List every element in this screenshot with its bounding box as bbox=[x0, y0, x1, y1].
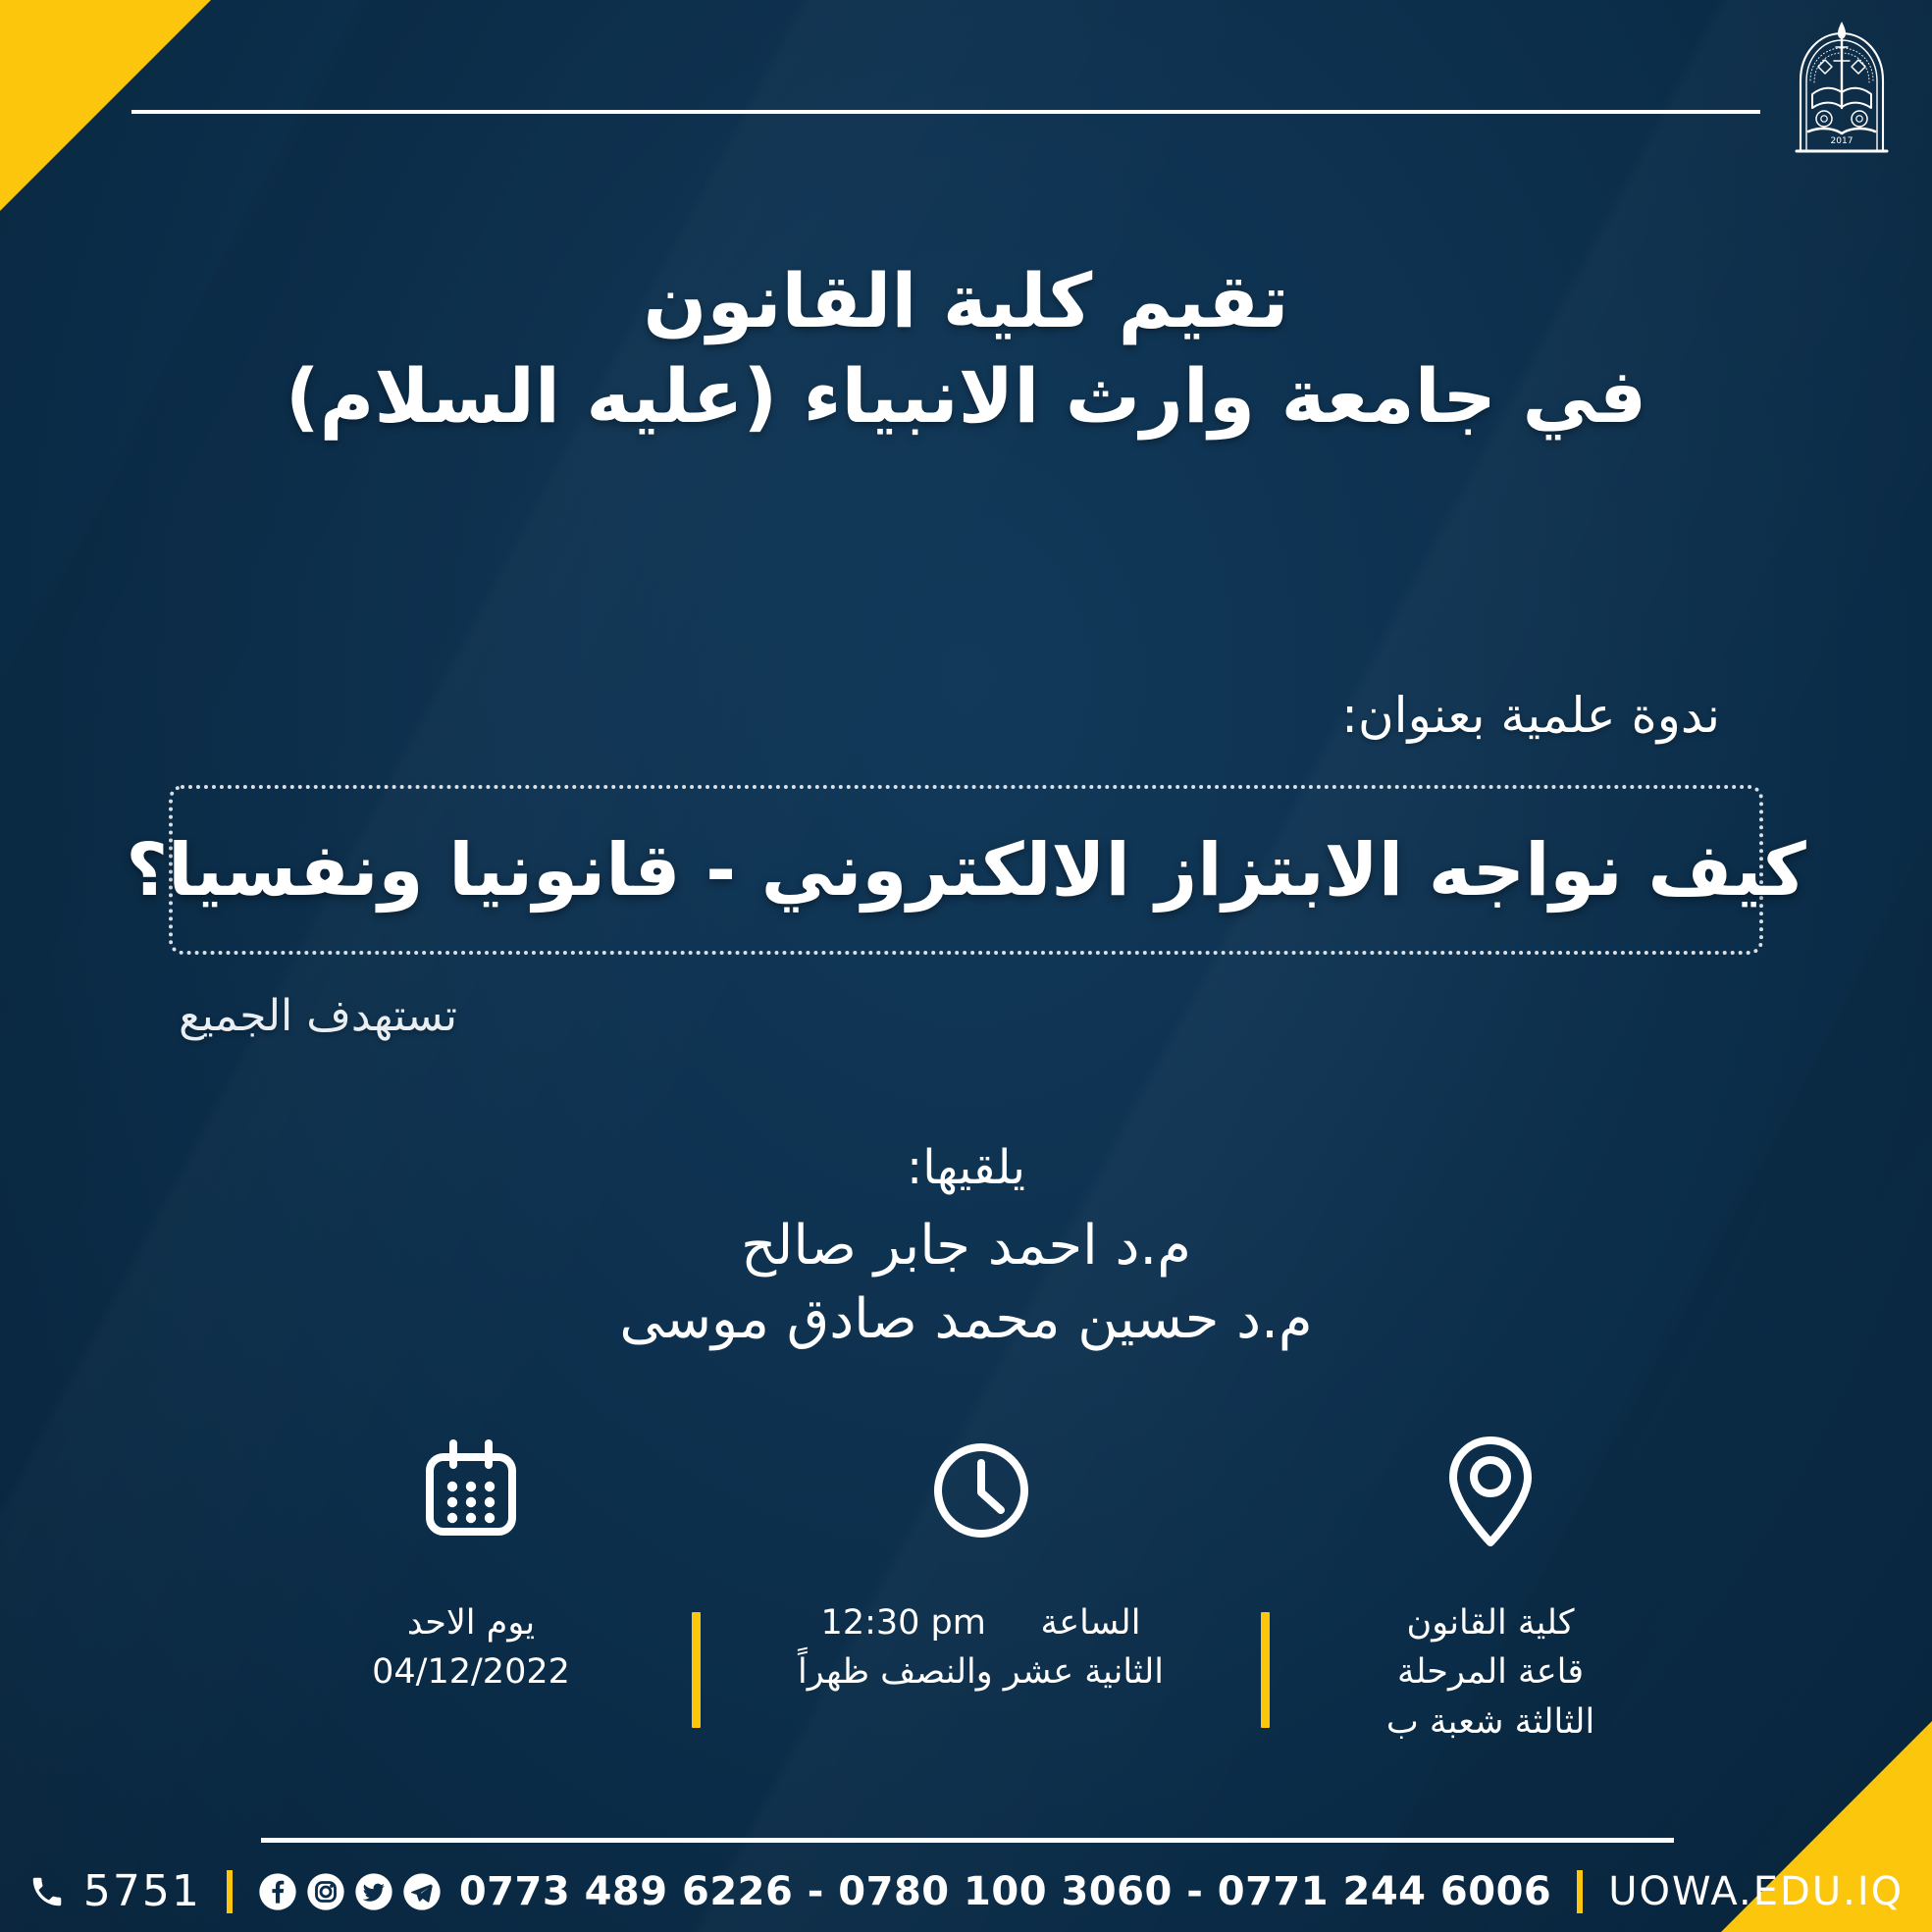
info-divider bbox=[692, 1612, 701, 1728]
footer-separator bbox=[1577, 1870, 1583, 1913]
seminar-title-box: كيف نواجه الابتزاز الالكتروني - قانونيا … bbox=[169, 785, 1763, 955]
event-place-line-1: كلية القانون bbox=[1386, 1598, 1594, 1647]
speaker-name: م.د احمد جابر صالح bbox=[0, 1209, 1932, 1282]
event-place-lines: كلية القانون قاعة المرحلة الثالثة شعبة ب bbox=[1386, 1598, 1594, 1747]
event-place-line-3: الثالثة شعبة ب bbox=[1386, 1697, 1594, 1747]
audience-note: تستهدف الجميع bbox=[179, 991, 457, 1041]
twitter-icon[interactable] bbox=[354, 1872, 393, 1911]
headline-line-2: في جامعة وارث الانبياء (عليه السلام) bbox=[0, 348, 1932, 444]
event-time-lines: الساعة 12:30 pm الثانية عشر والنصف ظهراً bbox=[798, 1598, 1164, 1697]
event-time-label: الساعة bbox=[1041, 1603, 1141, 1643]
speakers-lead-label: يلقيها: bbox=[0, 1136, 1932, 1199]
event-time-cell: الساعة 12:30 pm الثانية عشر والنصف ظهراً bbox=[775, 1428, 1187, 1697]
telegram-icon[interactable] bbox=[402, 1872, 442, 1911]
footer-separator bbox=[227, 1870, 233, 1913]
top-left-yellow-corner bbox=[0, 0, 211, 211]
event-place-line-2: قاعة المرحلة bbox=[1386, 1647, 1594, 1697]
seminar-label: ندوة علمية بعنوان: bbox=[1341, 687, 1720, 744]
event-date-value: 04/12/2022 bbox=[372, 1647, 570, 1697]
facebook-icon[interactable] bbox=[258, 1872, 297, 1911]
event-info-row: يوم الاحد 04/12/2022 الساعة 12:30 pm الث… bbox=[324, 1428, 1638, 1747]
speaker-name: م.د حسين محمد صادق موسى bbox=[0, 1282, 1932, 1356]
event-time-value: 12:30 pm bbox=[821, 1598, 986, 1647]
footer-divider-line bbox=[261, 1838, 1674, 1843]
svg-text:2017: 2017 bbox=[1831, 136, 1854, 146]
seminar-title: كيف نواجه الابتزاز الالكتروني - قانونيا … bbox=[126, 828, 1806, 913]
event-day-name: يوم الاحد bbox=[372, 1598, 570, 1647]
contact-numbers[interactable]: 0773 489 6226 - 0780 100 3060 - 0771 244… bbox=[459, 1869, 1551, 1914]
calendar-icon bbox=[416, 1428, 526, 1553]
speakers-block: يلقيها: م.د احمد جابر صالح م.د حسين محمد… bbox=[0, 1136, 1932, 1356]
hotline-number[interactable]: 5751 bbox=[83, 1866, 201, 1916]
phone-icon bbox=[28, 1873, 66, 1910]
website-url[interactable]: UOWA.EDU.IQ bbox=[1608, 1869, 1904, 1914]
event-time-primary: الساعة 12:30 pm bbox=[798, 1598, 1164, 1647]
instagram-icon[interactable] bbox=[306, 1872, 345, 1911]
location-pin-icon bbox=[1436, 1428, 1545, 1553]
event-time-words: الثانية عشر والنصف ظهراً bbox=[798, 1647, 1164, 1697]
university-logo: 2017 bbox=[1779, 18, 1905, 155]
event-date-cell: يوم الاحد 04/12/2022 bbox=[324, 1428, 618, 1697]
social-links bbox=[258, 1872, 442, 1911]
info-divider bbox=[1261, 1612, 1270, 1728]
event-place-cell: كلية القانون قاعة المرحلة الثالثة شعبة ب bbox=[1343, 1428, 1638, 1747]
event-date-lines: يوم الاحد 04/12/2022 bbox=[372, 1598, 570, 1697]
clock-icon bbox=[926, 1428, 1036, 1553]
headline: تقيم كلية القانون في جامعة وارث الانبياء… bbox=[0, 253, 1932, 444]
header-divider-line bbox=[131, 110, 1760, 114]
seminar-poster: 2017 تقيم كلية القانون في جامعة وارث الا… bbox=[0, 0, 1932, 1932]
headline-line-1: تقيم كلية القانون bbox=[0, 253, 1932, 348]
footer-bar: 5751 0773 489 6226 - 0780 100 3060 - 077… bbox=[0, 1866, 1932, 1916]
